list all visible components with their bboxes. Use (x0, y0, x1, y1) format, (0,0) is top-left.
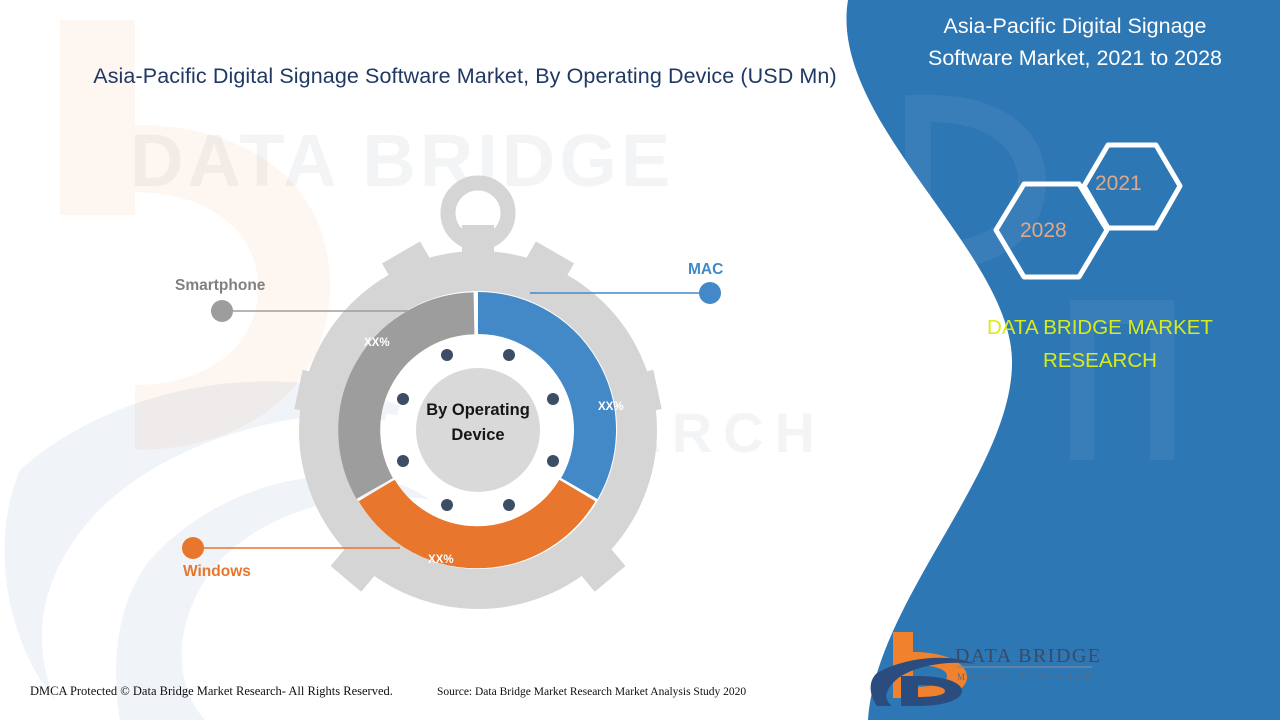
tick-dot (503, 349, 515, 361)
callout-label-smartphone: Smartphone (175, 277, 265, 295)
percent-label-windows: XX% (428, 554, 454, 566)
tick-dot (397, 455, 409, 467)
footer-dmca-text: DMCA Protected © Data Bridge Market Rese… (30, 684, 393, 699)
donut-center-label: By Operating Device (378, 398, 578, 448)
percent-label-mac: XX% (598, 401, 624, 413)
footer-source-text: Source: Data Bridge Market Research Mark… (437, 686, 746, 698)
tick-dot (503, 499, 515, 511)
donut-center-line-2: Device (378, 423, 578, 448)
callout-dot-mac[interactable] (699, 282, 721, 304)
percent-label-smartphone: XX% (364, 337, 390, 349)
callout-dot-windows[interactable] (182, 537, 204, 559)
callout-label-windows: Windows (183, 563, 251, 581)
tick-dot (441, 499, 453, 511)
tick-dot (547, 455, 559, 467)
callout-dot-smartphone[interactable] (211, 300, 233, 322)
infographic-canvas: DATA BRIDGE T RESEARCH Asia-Pacific Digi… (0, 0, 1280, 720)
donut-center-line-1: By Operating (378, 398, 578, 423)
donut-chart (0, 0, 1280, 720)
callout-label-mac: MAC (688, 261, 723, 279)
tick-dot (441, 349, 453, 361)
